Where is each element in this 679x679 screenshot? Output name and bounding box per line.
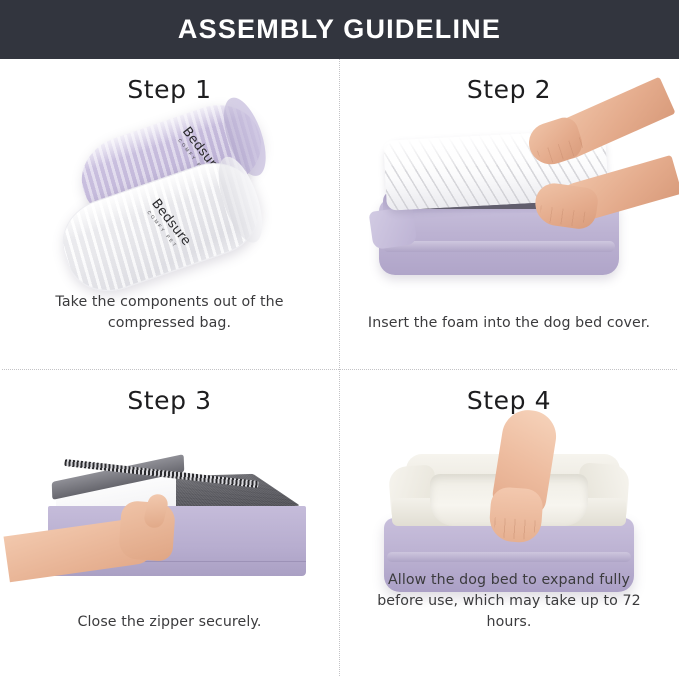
step-panel-4: Step 4 Allow the dog bed to expand fully… <box>339 370 679 679</box>
hand <box>488 486 544 543</box>
assembly-guideline-page: ASSEMBLY GUIDELINE Step 1 Bedsure COMFY … <box>0 0 679 679</box>
step-1-caption: Take the components out of the compresse… <box>26 292 313 334</box>
step-panel-1: Step 1 Bedsure COMFY PET Bedsure <box>0 59 339 370</box>
cover-flap <box>369 206 418 250</box>
steps-grid: Step 1 Bedsure COMFY PET Bedsure <box>0 59 679 679</box>
step-1-title: Step 1 <box>0 75 339 104</box>
step-4-title: Step 4 <box>339 386 679 415</box>
foam-insert-graphic <box>369 113 649 303</box>
compressed-rolls-graphic: Bedsure COMFY PET Bedsure COMFY PET <box>55 119 285 294</box>
page-title: ASSEMBLY GUIDELINE <box>178 16 501 43</box>
zipper-close-graphic <box>34 422 306 622</box>
step-panel-3: Step 3 Close the zipper securely. <box>0 370 339 679</box>
fingers <box>493 518 536 541</box>
step-2-illustration <box>339 111 679 301</box>
step-4-caption: Allow the dog bed to expand fully before… <box>365 570 653 633</box>
step-3-title: Step 3 <box>0 386 339 415</box>
step-panel-2: Step 2 Insert the foam into the dog bed … <box>339 59 679 370</box>
step-2-caption: Insert the foam into the dog bed cover. <box>365 313 653 334</box>
step-1-illustration: Bedsure COMFY PET Bedsure COMFY PET <box>0 111 339 301</box>
step-3-illustration <box>0 422 339 622</box>
roll-brand-label: Bedsure COMFY PET <box>143 196 193 252</box>
step-3-caption: Close the zipper securely. <box>26 612 313 633</box>
page-header: ASSEMBLY GUIDELINE <box>0 0 679 59</box>
